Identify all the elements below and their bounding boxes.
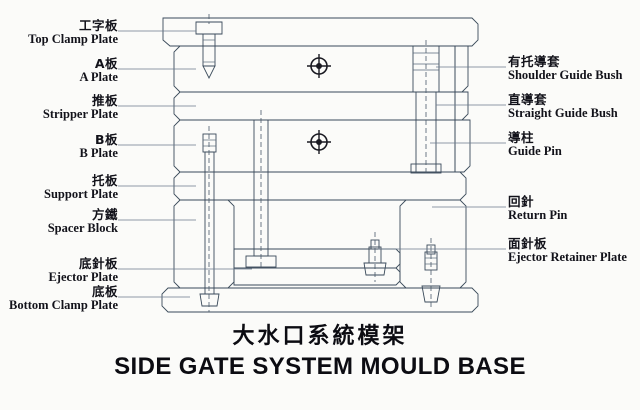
ejector-pin-shaft [205,152,214,294]
diagram-title: 大水口系統模架 SIDE GATE SYSTEM MOULD BASE [0,318,640,381]
label-spacer-block: 方鐵 Spacer Block [0,209,118,235]
label-shoulder-guide-bush-en: Shoulder Guide Bush [508,69,622,82]
label-b-plate: B板 B Plate [0,134,118,160]
plate-stripper [174,92,455,120]
label-a-plate: A板 A Plate [0,58,118,84]
label-ejector-retainer-plate: 面針板 Ejector Retainer Plate [508,238,627,264]
label-spacer-block-en: Spacer Block [0,222,118,235]
label-support-plate: 托板 Support Plate [0,175,118,201]
diagram-canvas: 工字板 Top Clamp Plate A板 A Plate 推板 Stripp… [0,0,640,410]
center-target-a-plate [307,54,331,78]
title-chinese: 大水口系統模架 [0,318,640,350]
plate-stripper-right-wing [455,92,468,120]
label-bottom-clamp-plate-cn: 底板 [0,286,118,299]
label-ejector-plate: 底針板 Ejector Plate [0,258,118,284]
label-stripper-plate-en: Stripper Plate [0,108,118,121]
top-clamp-screw-shank [203,34,215,66]
ejector-pin-foot [200,294,219,306]
plate-b-right-wing [455,120,470,172]
plate-bottom-clamp [162,288,478,312]
label-bottom-clamp-plate: 底板 Bottom Clamp Plate [0,286,118,312]
label-spacer-block-cn: 方鐵 [0,209,118,222]
label-top-clamp-plate: 工字板 Top Clamp Plate [0,20,118,46]
label-shoulder-guide-bush: 有托導套 Shoulder Guide Bush [508,56,622,82]
label-ejector-plate-en: Ejector Plate [0,271,118,284]
label-return-pin: 回針 Return Pin [508,196,567,222]
label-guide-pin-en: Guide Pin [508,145,562,158]
label-guide-pin: 導柱 Guide Pin [508,132,562,158]
label-top-clamp-plate-cn: 工字板 [0,20,118,33]
spacer-block-right [400,200,466,288]
plate-a-right-wing [455,46,468,92]
label-return-pin-en: Return Pin [508,209,567,222]
label-ejector-retainer-plate-cn: 面針板 [508,238,627,251]
label-straight-guide-bush-cn: 直導套 [508,94,618,107]
label-support-plate-en: Support Plate [0,188,118,201]
label-support-plate-cn: 托板 [0,175,118,188]
spacer-block-left [174,200,234,288]
center-target-b-plate [307,130,331,154]
plate-support [174,172,466,200]
label-bottom-clamp-plate-en: Bottom Clamp Plate [0,299,118,312]
title-english: SIDE GATE SYSTEM MOULD BASE [0,353,640,381]
label-stripper-plate-cn: 推板 [0,95,118,108]
label-ejector-plate-cn: 底針板 [0,258,118,271]
label-b-plate-en: B Plate [0,147,118,160]
label-straight-guide-bush-en: Straight Guide Bush [508,107,618,120]
label-a-plate-en: A Plate [0,71,118,84]
label-top-clamp-plate-en: Top Clamp Plate [0,33,118,46]
label-return-pin-cn: 回針 [508,196,567,209]
top-clamp-screw-tip [203,66,215,78]
label-straight-guide-bush: 直導套 Straight Guide Bush [508,94,618,120]
label-stripper-plate: 推板 Stripper Plate [0,95,118,121]
ejector-pin-head [203,134,216,152]
label-shoulder-guide-bush-cn: 有托導套 [508,56,622,69]
label-guide-pin-cn: 導柱 [508,132,562,145]
label-ejector-retainer-plate-en: Ejector Retainer Plate [508,251,627,264]
label-b-plate-cn: B板 [0,134,118,147]
label-a-plate-cn: A板 [0,58,118,71]
sprue-bush-sleeve [254,120,268,256]
